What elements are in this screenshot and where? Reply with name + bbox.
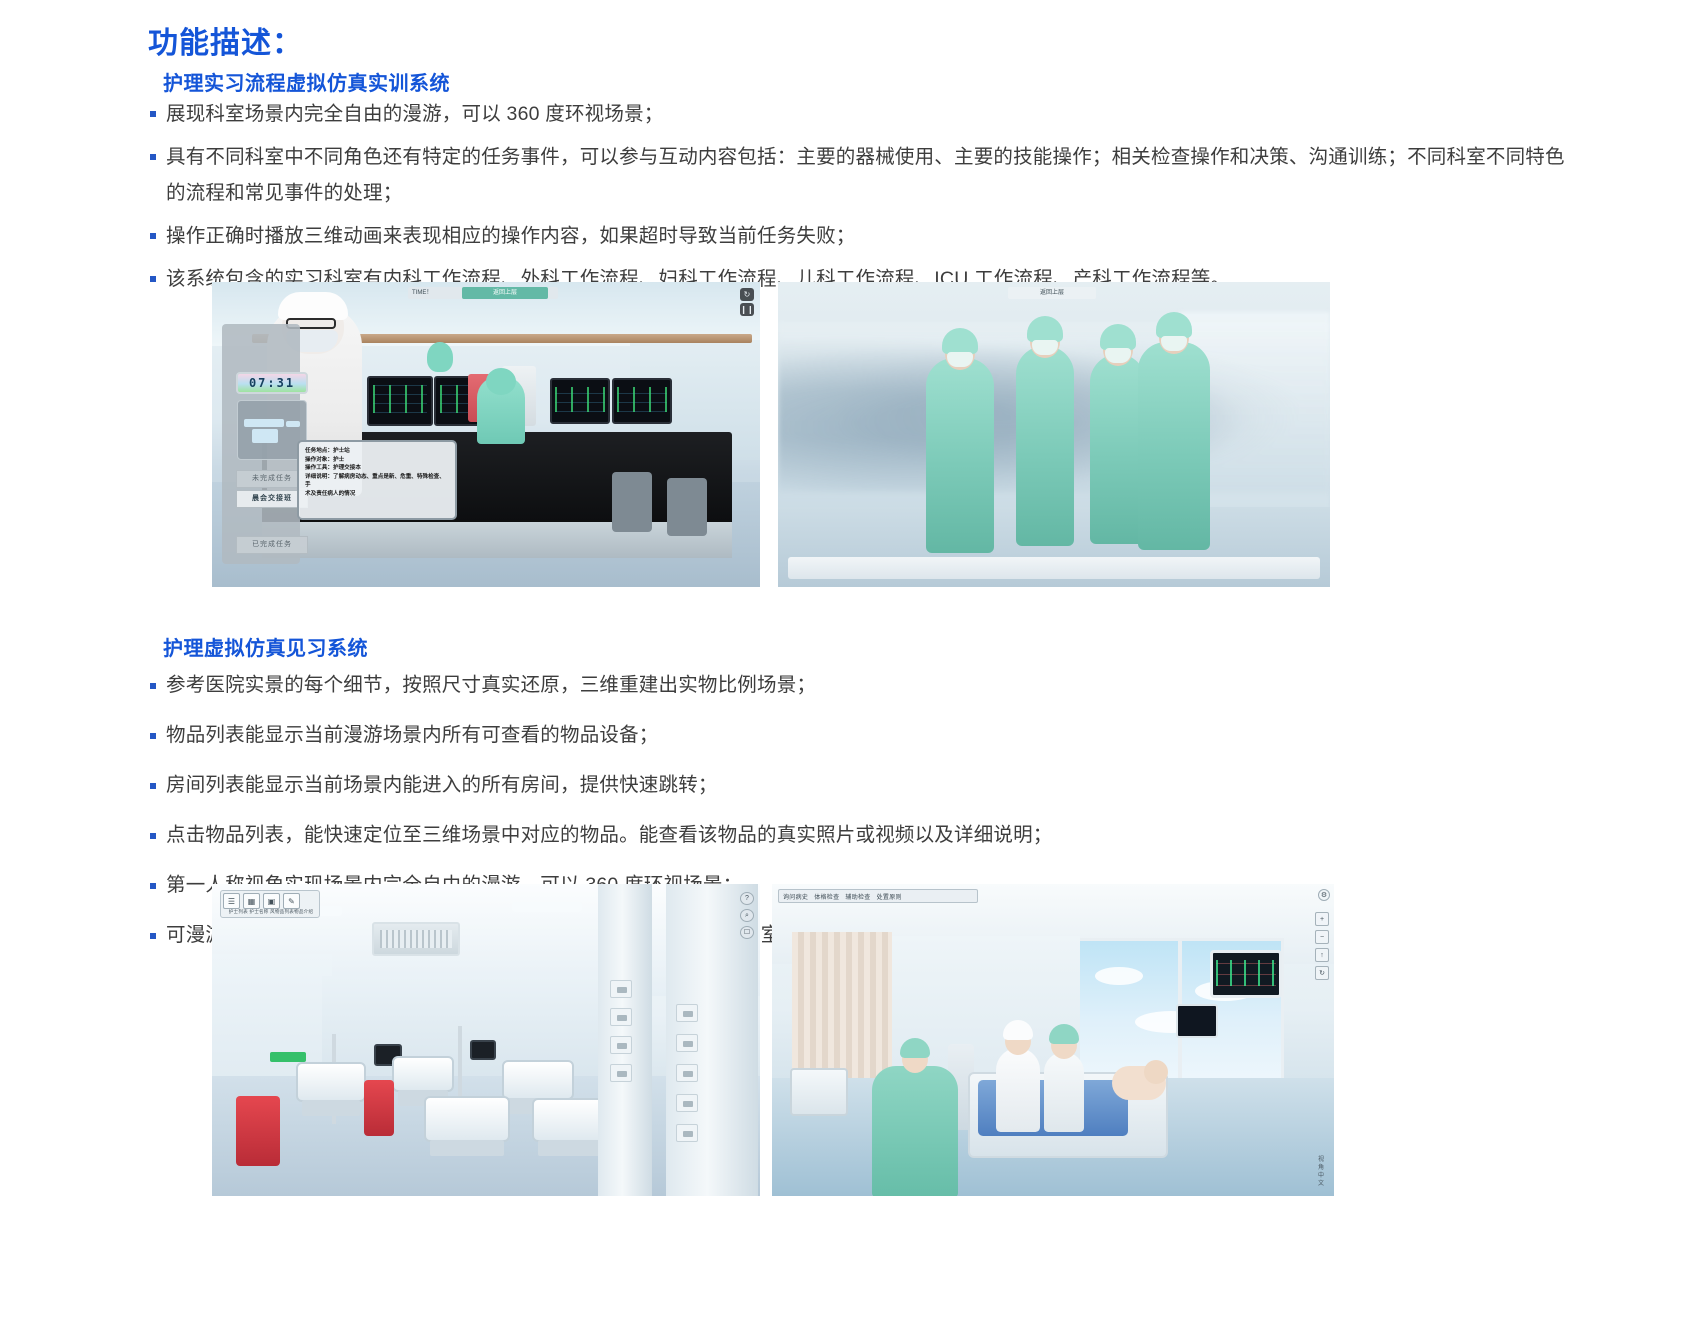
- plus-icon[interactable]: +: [1315, 912, 1329, 926]
- pen-icon[interactable]: ✎: [283, 893, 300, 909]
- patient-monitor: [612, 378, 672, 424]
- figure-nicu-room: ☰ ▦ ▣ ✎ 护士列表 护士名称 风物品列表物品介绍 ? ⌕ ☐: [212, 884, 760, 1196]
- list-icon[interactable]: ☰: [223, 893, 240, 909]
- task-info-box: 任务地点：护士站 操作对象：护士 操作工具：护理交接本 详细说明：了解病房动态、…: [297, 440, 457, 520]
- infant-incubator: [502, 1060, 574, 1100]
- reset-icon[interactable]: ↻: [1315, 966, 1329, 980]
- surgeon-avatar: [926, 322, 994, 552]
- info-target: 操作对象：护士: [305, 456, 449, 465]
- list-item: 操作正确时播放三维动画来表现相应的操作内容，如果超时导致当前任务失败；: [148, 218, 1568, 254]
- fullscreen-icon[interactable]: ☐: [740, 926, 754, 939]
- scene-menu-bar: 询问病史 体格检查 辅助检查 处置原则: [778, 889, 978, 903]
- menu-item-history[interactable]: 询问病史: [783, 892, 808, 901]
- wall-socket: [676, 1004, 698, 1022]
- surgeon-avatar: [1138, 306, 1210, 554]
- medical-cart: [790, 1068, 848, 1116]
- figure-surgical-team: 返回上层: [778, 282, 1330, 587]
- nurse-avatar: [1044, 1018, 1084, 1126]
- infant-incubator: [296, 1062, 366, 1102]
- list-item: 具有不同科室中不同角色还有特定的任务事件，可以参与互动内容包括：主要的器械使用、…: [148, 139, 1568, 211]
- infant-incubator: [392, 1056, 454, 1092]
- counter-top: [262, 522, 732, 558]
- wall-socket: [676, 1124, 698, 1142]
- wall-socket: [676, 1094, 698, 1112]
- list-item: 点击物品列表，能快速定位至三维场景中对应的物品。能查看该物品的真实照片或视频以及…: [148, 818, 1568, 852]
- patient-monitor: [367, 376, 433, 426]
- wall-socket: [610, 980, 632, 998]
- info-tool: 操作工具：护理交接本: [305, 464, 449, 473]
- wall-socket: [610, 1008, 632, 1026]
- menu-item-treatment-principles[interactable]: 处置原则: [877, 892, 902, 901]
- arrow-icon[interactable]: ↑: [1315, 948, 1329, 962]
- ceiling-light: [512, 902, 582, 912]
- seated-nurse-head: [486, 368, 516, 395]
- toolbar-caption: 护士列表 护士名称 风物品列表物品介绍: [223, 909, 319, 915]
- office-chair: [667, 478, 707, 536]
- right-control-stack: + − ↑ ↻: [1315, 912, 1329, 984]
- office-chair: [612, 472, 652, 532]
- patient-monitor: [550, 378, 610, 424]
- section-heading-1: 护理实习流程虚拟仿真实训系统: [163, 67, 450, 96]
- section-heading-2: 护理虚拟仿真见习系统: [163, 632, 368, 661]
- tab-completed-tasks[interactable]: 已完成任务: [236, 536, 308, 554]
- right-control-stack: ? ⌕ ☐: [740, 892, 754, 943]
- scene-toolbar: ☰ ▦ ▣ ✎ 护士列表 护士名称 风物品列表物品介绍: [220, 890, 320, 918]
- monitor-screen: [470, 1040, 496, 1060]
- minus-icon[interactable]: −: [1315, 930, 1329, 944]
- bullet-list-1: 展现科室场景内完全自由的漫游，可以 360 度环视场景； 具有不同科室中不同角色…: [148, 96, 1568, 304]
- zoom-icon[interactable]: ⌕: [740, 909, 754, 922]
- background-nurse-head: [427, 342, 453, 372]
- info-location: 任务地点：护士站: [305, 447, 449, 456]
- menu-item-auxiliary-exam[interactable]: 辅助检查: [845, 892, 870, 901]
- info-detail-2: 术及责任病人的情况: [305, 490, 449, 499]
- wall-socket: [610, 1036, 632, 1054]
- back-button[interactable]: 返回上层: [462, 287, 548, 299]
- wall-socket: [610, 1064, 632, 1082]
- bottom-ui-bar: [788, 557, 1320, 579]
- page-title: 功能描述：: [148, 18, 303, 62]
- list-item: 物品列表能显示当前漫游场景内所有可查看的物品设备；: [148, 718, 1568, 752]
- task-panel: 07:31 未完成任务 晨会交接班 已完成任务: [222, 324, 300, 564]
- air-conditioner-vent: [372, 922, 460, 956]
- photo-icon[interactable]: ▣: [263, 893, 280, 909]
- patient-head: [1144, 1060, 1168, 1084]
- wall-socket: [676, 1064, 698, 1082]
- vertical-label: 视角中文: [1316, 1156, 1326, 1188]
- vital-signs-monitor: [1210, 950, 1282, 998]
- wall-socket: [676, 1034, 698, 1052]
- doctor-avatar: [996, 1014, 1040, 1126]
- timer-value: 07:31: [238, 374, 306, 392]
- red-emergency-cart: [364, 1080, 394, 1136]
- list-item: 房间列表能显示当前场景内能进入的所有房间，提供快速跳转；: [148, 768, 1568, 802]
- green-equipment-panel: [270, 1052, 306, 1062]
- hud-controls: ↻ ❙❙: [740, 288, 754, 318]
- help-icon[interactable]: ?: [740, 892, 754, 905]
- info-detail-1: 详细说明：了解病房动态、重点是新、危重、特殊检查、手: [305, 473, 449, 490]
- bedside-monitor: [1176, 1004, 1218, 1038]
- pause-icon[interactable]: ❙❙: [740, 303, 754, 316]
- figure-ward-room: 询问病史 体格检查 辅助检查 处置原则 ⚙ + − ↑ ↻ 视角中文: [772, 884, 1334, 1196]
- room-icon[interactable]: ▦: [243, 893, 260, 909]
- red-emergency-cart: [236, 1096, 280, 1166]
- surgeon-avatar: [1016, 310, 1074, 550]
- countdown-timer: 07:31: [236, 372, 308, 394]
- back-button[interactable]: 返回上层: [1008, 287, 1096, 299]
- foreground-nurse-avatar: [872, 1032, 958, 1196]
- list-item: 参考医院实景的每个细节，按照尺寸真实还原，三维重建出实物比例场景；: [148, 668, 1568, 702]
- figure-nurse-station: TIME！ 返回上层 07:31 未完成任务 晨会交接班 已完成任务 任务地点：…: [212, 282, 760, 587]
- settings-icon[interactable]: ⚙: [1318, 889, 1330, 901]
- refresh-icon[interactable]: ↻: [740, 288, 754, 301]
- infant-incubator: [424, 1096, 510, 1142]
- nurse-cap: [278, 292, 348, 320]
- list-item: 展现科室场景内完全自由的漫游，可以 360 度环视场景；: [148, 96, 1568, 132]
- menu-item-physical-exam[interactable]: 体格检查: [814, 892, 839, 901]
- page-root: 功能描述： 护理实习流程虚拟仿真实训系统 展现科室场景内完全自由的漫游，可以 3…: [0, 0, 1700, 1327]
